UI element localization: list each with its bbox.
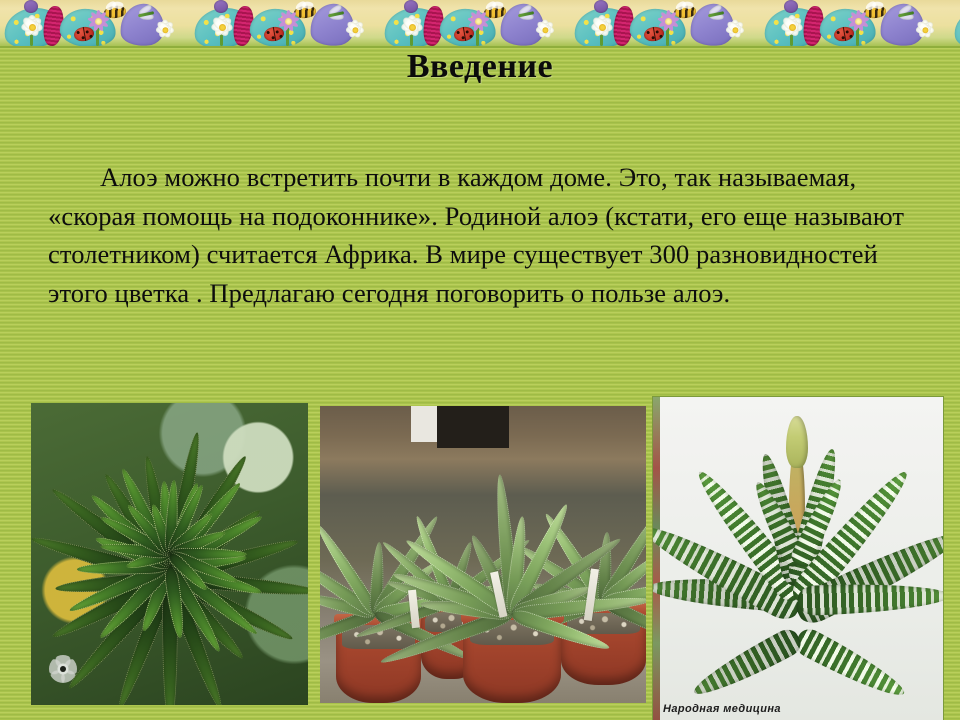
border-motif-group: [380, 0, 570, 46]
photo-potted-aloe-vera: [320, 406, 646, 703]
aster-flower-icon: [85, 9, 111, 33]
aster-flower-icon: [465, 9, 491, 33]
aster-flower-icon: [655, 9, 681, 33]
border-motif-group: [190, 0, 380, 46]
daisy-flower-icon: [722, 18, 748, 40]
daisy-flower-icon: [587, 13, 617, 39]
daisy-flower-icon: [777, 13, 807, 39]
daisy-flower-icon: [397, 13, 427, 39]
watermark-text: Народная медицина: [663, 703, 781, 715]
border-motif-group: [570, 0, 760, 46]
photo-3-left-edge-strip: [653, 397, 660, 720]
aster-flower-icon: [275, 9, 301, 33]
border-motif-group: [760, 0, 950, 46]
daisy-flower-icon: [17, 13, 47, 39]
daisy-flower-icon: [342, 18, 368, 40]
daisy-flower-icon: [912, 18, 938, 40]
photo-2-backdrop-dark: [437, 406, 509, 448]
presentation-slide: Введение Алоэ можно встретить почти в ка…: [0, 0, 960, 720]
decorative-top-border: [0, 0, 960, 48]
beetle-icon: [214, 0, 228, 13]
beetle-icon: [24, 0, 38, 13]
aster-flower-icon: [845, 9, 871, 33]
border-motif-group: [0, 0, 190, 46]
page-title: Введение: [0, 44, 960, 90]
daisy-flower-icon: [532, 18, 558, 40]
beetle-icon: [594, 0, 608, 13]
photo-aloe-arborescens-rosette: [31, 403, 308, 705]
border-motif-group: [950, 0, 960, 46]
photo-aloe-variegata: Народная медицина: [652, 396, 944, 720]
beetle-icon: [404, 0, 418, 13]
body-paragraph: Алоэ можно встретить почти в каждом доме…: [48, 158, 928, 312]
daisy-flower-icon: [207, 13, 237, 39]
beetle-icon: [784, 0, 798, 13]
watermark-flower-icon: [49, 655, 77, 683]
border-pattern-strip: [0, 0, 960, 46]
daisy-flower-icon: [152, 18, 178, 40]
